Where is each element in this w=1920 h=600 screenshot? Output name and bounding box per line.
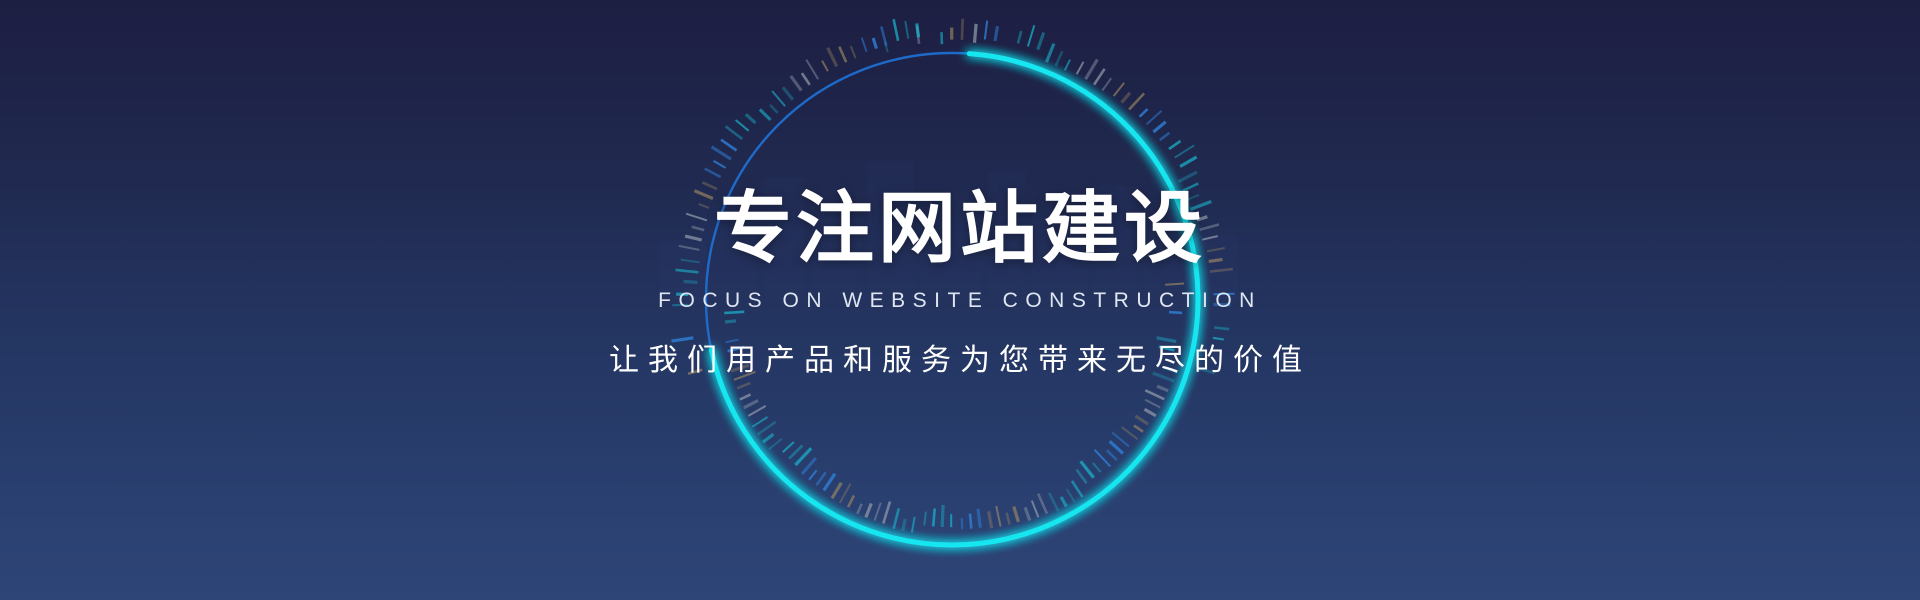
banner-text-block: 专注网站建设 FOCUS ON WEBSITE CONSTRUCTION 让我们… [0,188,1920,379]
banner-tagline: 让我们用产品和服务为您带来无尽的价值 [0,335,1920,379]
banner-headline: 专注网站建设 [0,188,1920,270]
hero-banner: 专注网站建设 FOCUS ON WEBSITE CONSTRUCTION 让我们… [0,0,1920,600]
banner-subline: FOCUS ON WEBSITE CONSTRUCTION [0,289,1920,313]
